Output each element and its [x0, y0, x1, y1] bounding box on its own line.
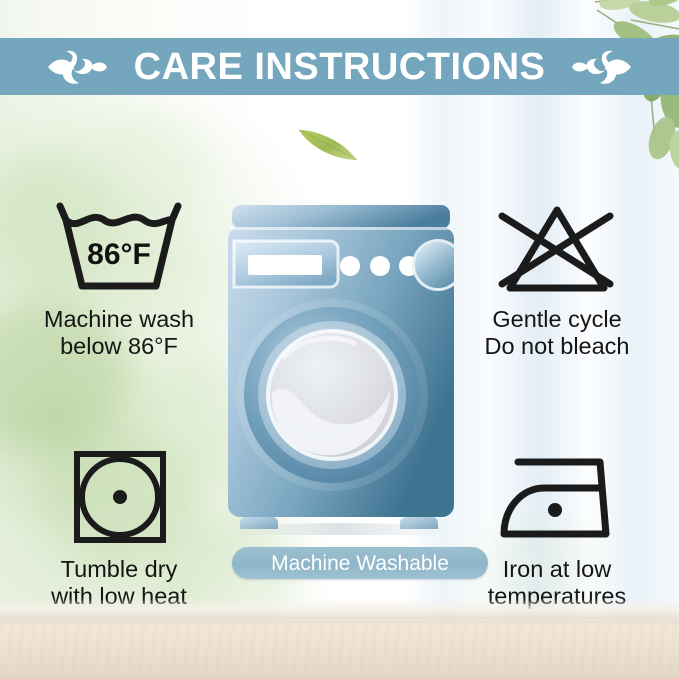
care-symbol-machine-wash: 86°F Machine wash below 86°F	[14, 196, 224, 361]
care-symbol-iron-low: Iron at low temperatures	[452, 446, 662, 611]
tumble-dry-low-heat-icon	[44, 448, 194, 548]
iron-one-dot-icon-wrap	[452, 446, 662, 550]
washing-machine-illustration	[228, 205, 454, 535]
iron-one-dot-icon	[482, 448, 632, 548]
care-symbol-tumble-dry: Tumble dry with low heat	[14, 446, 224, 611]
badge-label: Machine Washable	[271, 553, 449, 574]
green-leaf-icon	[296, 124, 360, 166]
fleur-de-lis-icon	[571, 47, 633, 87]
fleur-de-lis-icon	[46, 47, 108, 87]
wash-tub-icon-wrap: 86°F	[14, 196, 224, 300]
care-instructions-infographic: CARE INSTRUCTIONS	[0, 0, 679, 679]
care-symbol-do-not-bleach: Gentle cycle Do not bleach	[452, 196, 662, 361]
machine-washable-badge: Machine Washable	[232, 547, 488, 579]
triangle-crossed-out-icon	[482, 198, 632, 298]
triangle-crossed-out-icon-wrap	[452, 196, 662, 300]
table-edge	[0, 599, 679, 621]
table-wood-grain	[0, 621, 679, 679]
tumble-dry-low-heat-icon-wrap	[14, 446, 224, 550]
wash-temperature-label: 86°F	[87, 238, 151, 271]
care-symbol-caption: Gentle cycle Do not bleach	[452, 306, 662, 361]
header-banner: CARE INSTRUCTIONS	[0, 38, 679, 95]
wash-tub-icon: 86°F	[44, 198, 194, 298]
page-title: CARE INSTRUCTIONS	[134, 48, 546, 86]
care-symbol-caption: Machine wash below 86°F	[14, 306, 224, 361]
